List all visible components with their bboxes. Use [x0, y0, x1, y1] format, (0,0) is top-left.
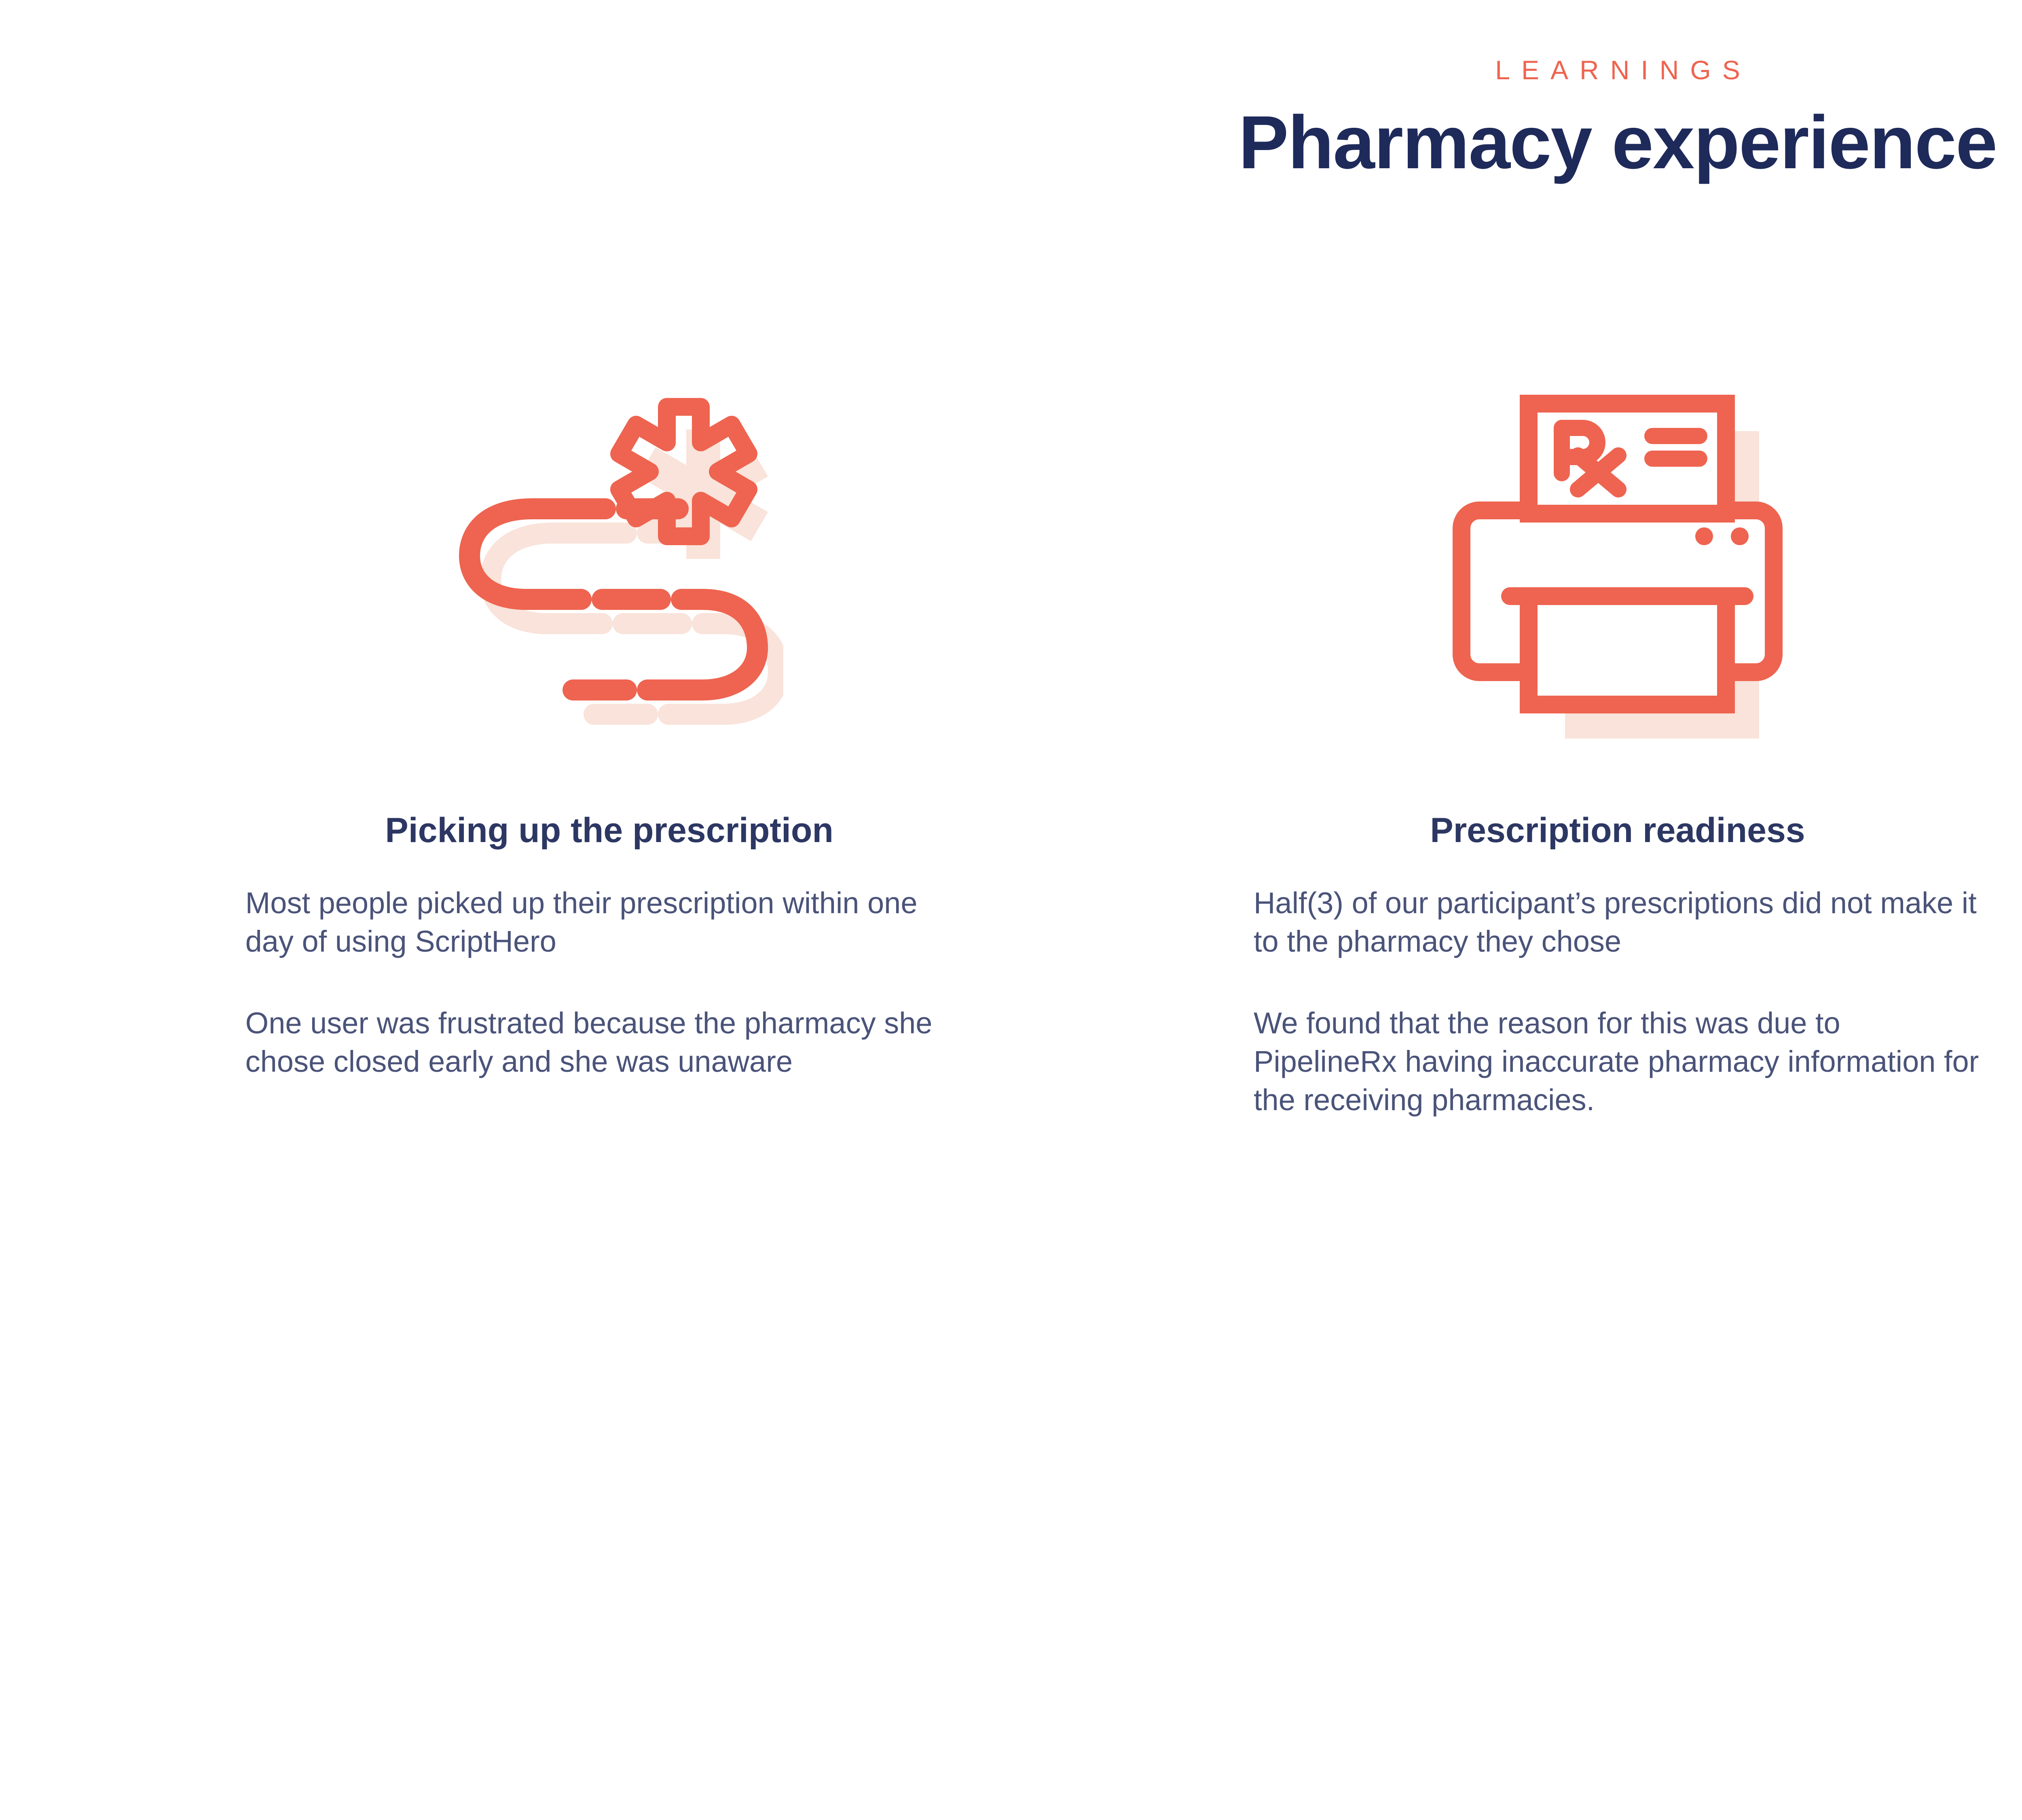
paragraph: Half(3) of our participant’s prescriptio…: [1254, 884, 1982, 961]
learning-column-prescription-readiness: Prescription readiness Half(3) of our pa…: [1113, 358, 2022, 1162]
icon-container: [137, 358, 1081, 811]
column-title: Picking up the prescription: [385, 811, 833, 884]
column-body: Most people picked up their prescription…: [245, 884, 973, 1081]
learning-columns: Picking up the prescription Most people …: [0, 358, 2022, 1162]
learning-column-picking-up-the-prescription: Picking up the prescription Most people …: [105, 358, 1113, 1162]
eyebrow-label: LEARNINGS: [0, 57, 2022, 83]
column-title: Prescription readiness: [1430, 811, 1805, 884]
column-body: Half(3) of our participant’s prescriptio…: [1254, 884, 1982, 1120]
printer-prescription-icon: [1444, 383, 1791, 787]
winding-road-medical-star-icon: [436, 383, 783, 787]
page-title: Pharmacy experience: [0, 105, 2022, 180]
page-header: LEARNINGS Pharmacy experience: [0, 0, 2022, 180]
paragraph: We found that the reason for this was du…: [1254, 1004, 1982, 1119]
printer-output-paper: [1529, 596, 1726, 705]
paragraph: Most people picked up their prescription…: [245, 884, 973, 961]
paragraph: One user was frustrated because the phar…: [245, 1004, 973, 1081]
icon-container: [1146, 358, 2022, 811]
